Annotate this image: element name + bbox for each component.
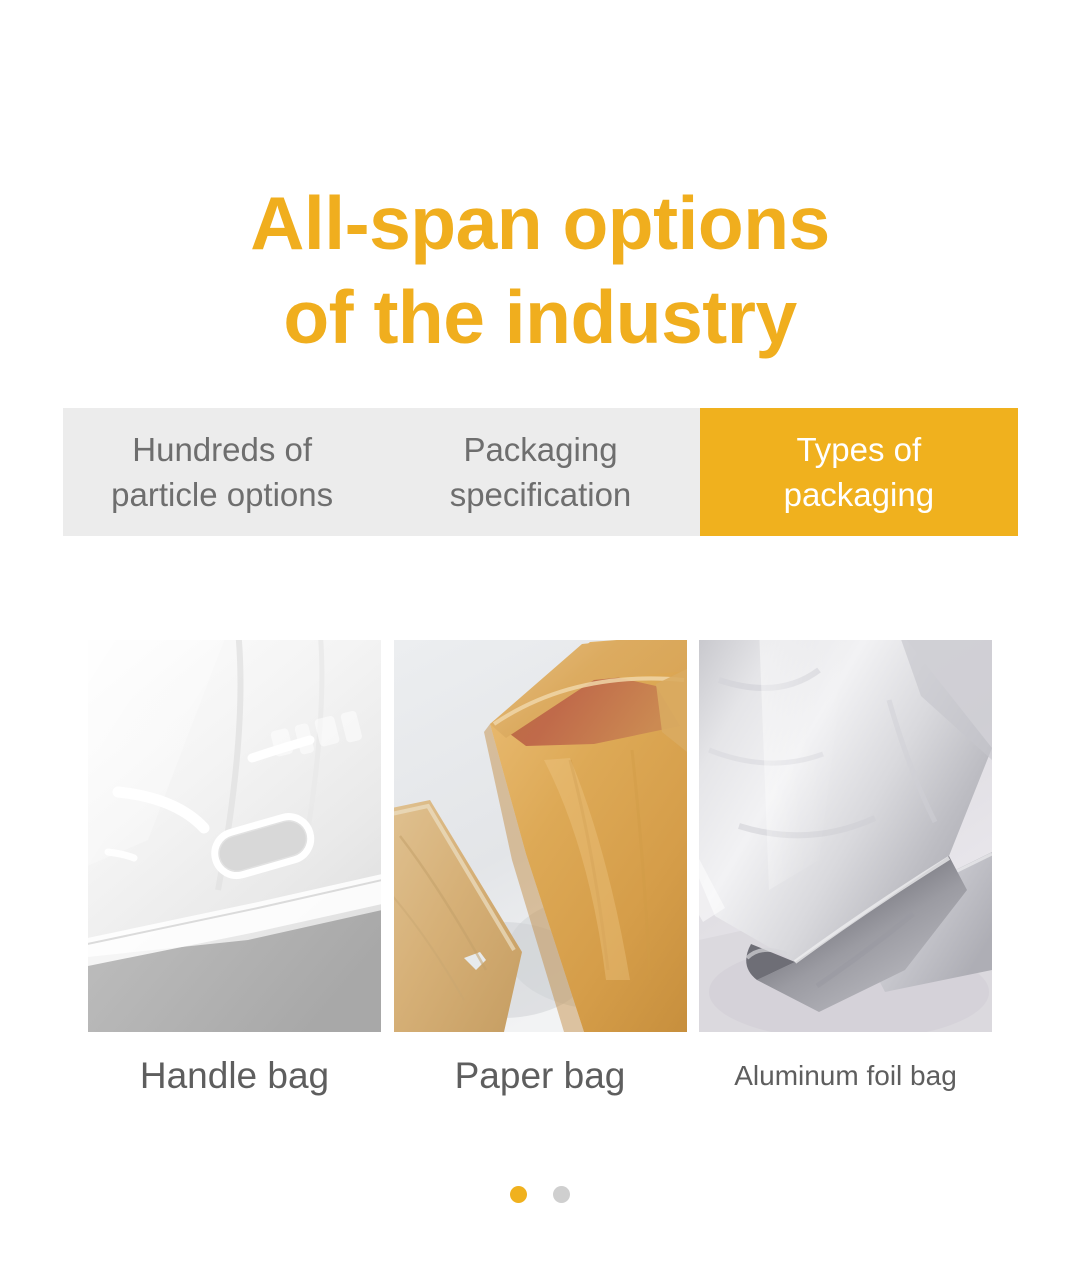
product-card[interactable]: Paper bag: [394, 640, 687, 1098]
aluminum-foil-bag-photo[interactable]: [699, 640, 992, 1032]
pagination-dot-1[interactable]: [510, 1186, 527, 1203]
tab-bar: Hundreds of particle options Packaging s…: [63, 408, 1018, 536]
promo-panel: All-span options of the industry Hundred…: [0, 0, 1080, 1273]
tab-label: Hundreds of particle options: [111, 427, 333, 517]
page-title-line-1: All-span options: [0, 176, 1080, 270]
handle-bag-photo[interactable]: [88, 640, 381, 1032]
tab-label: Types of packaging: [784, 427, 934, 517]
product-card[interactable]: Handle bag: [88, 640, 381, 1098]
carousel-pagination: [0, 1186, 1080, 1203]
paper-bag-photo[interactable]: [394, 640, 687, 1032]
product-caption: Aluminum foil bag: [699, 1054, 992, 1098]
tab-hundreds-of-particle-options[interactable]: Hundreds of particle options: [63, 408, 381, 536]
pagination-dot-2[interactable]: [553, 1186, 570, 1203]
product-card[interactable]: Aluminum foil bag: [699, 640, 992, 1098]
tab-types-of-packaging[interactable]: Types of packaging: [700, 408, 1018, 536]
tab-packaging-specification[interactable]: Packaging specification: [381, 408, 699, 536]
page-title-line-2: of the industry: [0, 270, 1080, 364]
product-card-list: Handle bag: [88, 640, 992, 1098]
tab-label: Packaging specification: [450, 427, 632, 517]
page-title: All-span options of the industry: [0, 176, 1080, 364]
product-caption: Handle bag: [88, 1054, 381, 1098]
product-caption: Paper bag: [394, 1054, 687, 1098]
